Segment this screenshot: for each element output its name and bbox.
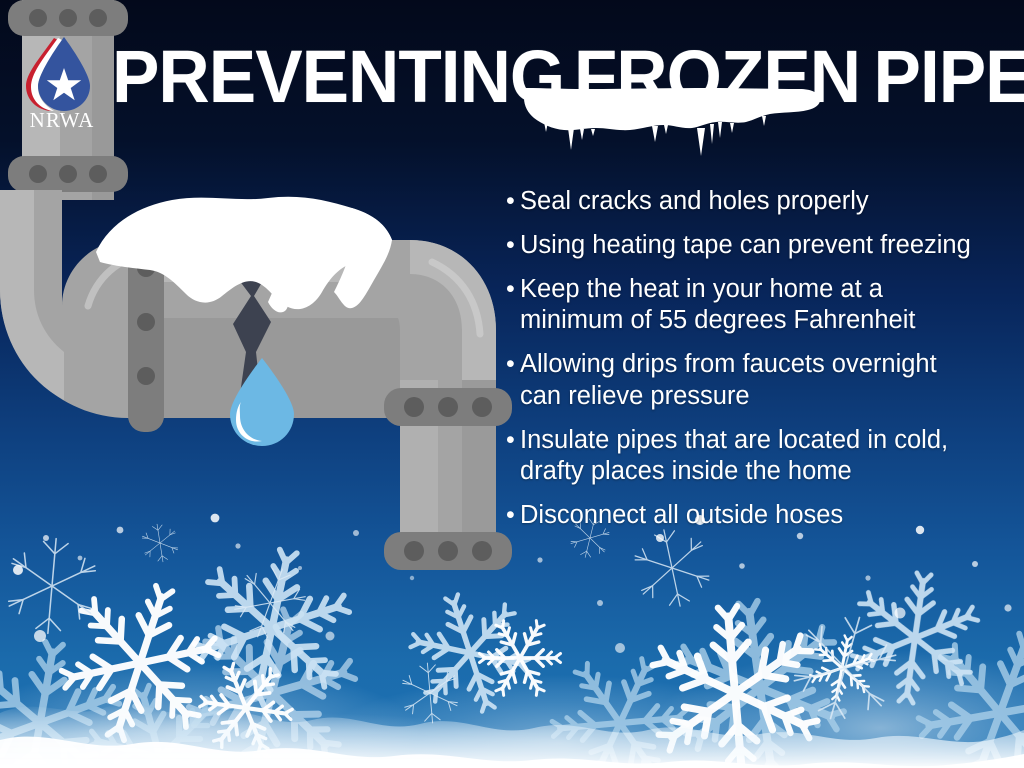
bullet-icon: • <box>506 186 520 217</box>
pipe-flange-bottom <box>384 532 512 570</box>
list-item: • Disconnect all outside hoses <box>506 500 1018 531</box>
title-word-preventing: PREVENTING <box>112 35 564 118</box>
pipe-horizontal <box>150 240 410 418</box>
title-word-frozen: FROZEN <box>574 35 860 118</box>
list-item: • Insulate pipes that are located in col… <box>506 425 1018 487</box>
pipe-flange-mid <box>384 388 512 426</box>
list-item-text: Allowing drips from faucets overnight ca… <box>520 349 1018 411</box>
list-item: • Using heating tape can prevent freezin… <box>506 230 1018 261</box>
water-droplet <box>230 358 294 446</box>
tips-list: • Seal cracks and holes properly • Using… <box>506 186 1018 544</box>
pipe-vertical-lower <box>400 380 496 560</box>
pipe-crack <box>233 248 271 408</box>
list-item-text: Using heating tape can prevent freezing <box>520 230 1018 261</box>
infographic-poster: NRWA PREVENTINGFROZENPIPES • Seal cracks… <box>0 0 1024 768</box>
title-word-pipes: PIPES <box>874 35 1024 118</box>
snowflake-band <box>0 508 1024 768</box>
pipe-elbow-left <box>0 190 190 418</box>
pipe-elbow-right <box>350 240 496 418</box>
nrwa-logo-label: NRWA <box>16 108 108 133</box>
water-drop-logo-icon <box>16 34 108 114</box>
nrwa-logo: NRWA <box>16 34 108 140</box>
page-title: PREVENTINGFROZENPIPES <box>112 40 976 114</box>
list-item-text: Keep the heat in your home at a minimum … <box>520 274 1018 336</box>
pipe-flange-top <box>8 0 128 36</box>
list-item: • Keep the heat in your home at a minimu… <box>506 274 1018 336</box>
bullet-icon: • <box>506 500 520 531</box>
bullet-icon: • <box>506 349 520 380</box>
list-item-text: Seal cracks and holes properly <box>520 186 1018 217</box>
list-item: • Seal cracks and holes properly <box>506 186 1018 217</box>
bullet-icon: • <box>506 274 520 305</box>
list-item-text: Insulate pipes that are located in cold,… <box>520 425 1018 487</box>
pipe-flange-vertical <box>128 236 164 432</box>
list-item: • Allowing drips from faucets overnight … <box>506 349 1018 411</box>
pipe-flange-upper <box>8 156 128 192</box>
bullet-icon: • <box>506 230 520 261</box>
bullet-icon: • <box>506 425 520 456</box>
list-item-text: Disconnect all outside hoses <box>520 500 1018 531</box>
snow-on-pipe <box>96 197 392 313</box>
